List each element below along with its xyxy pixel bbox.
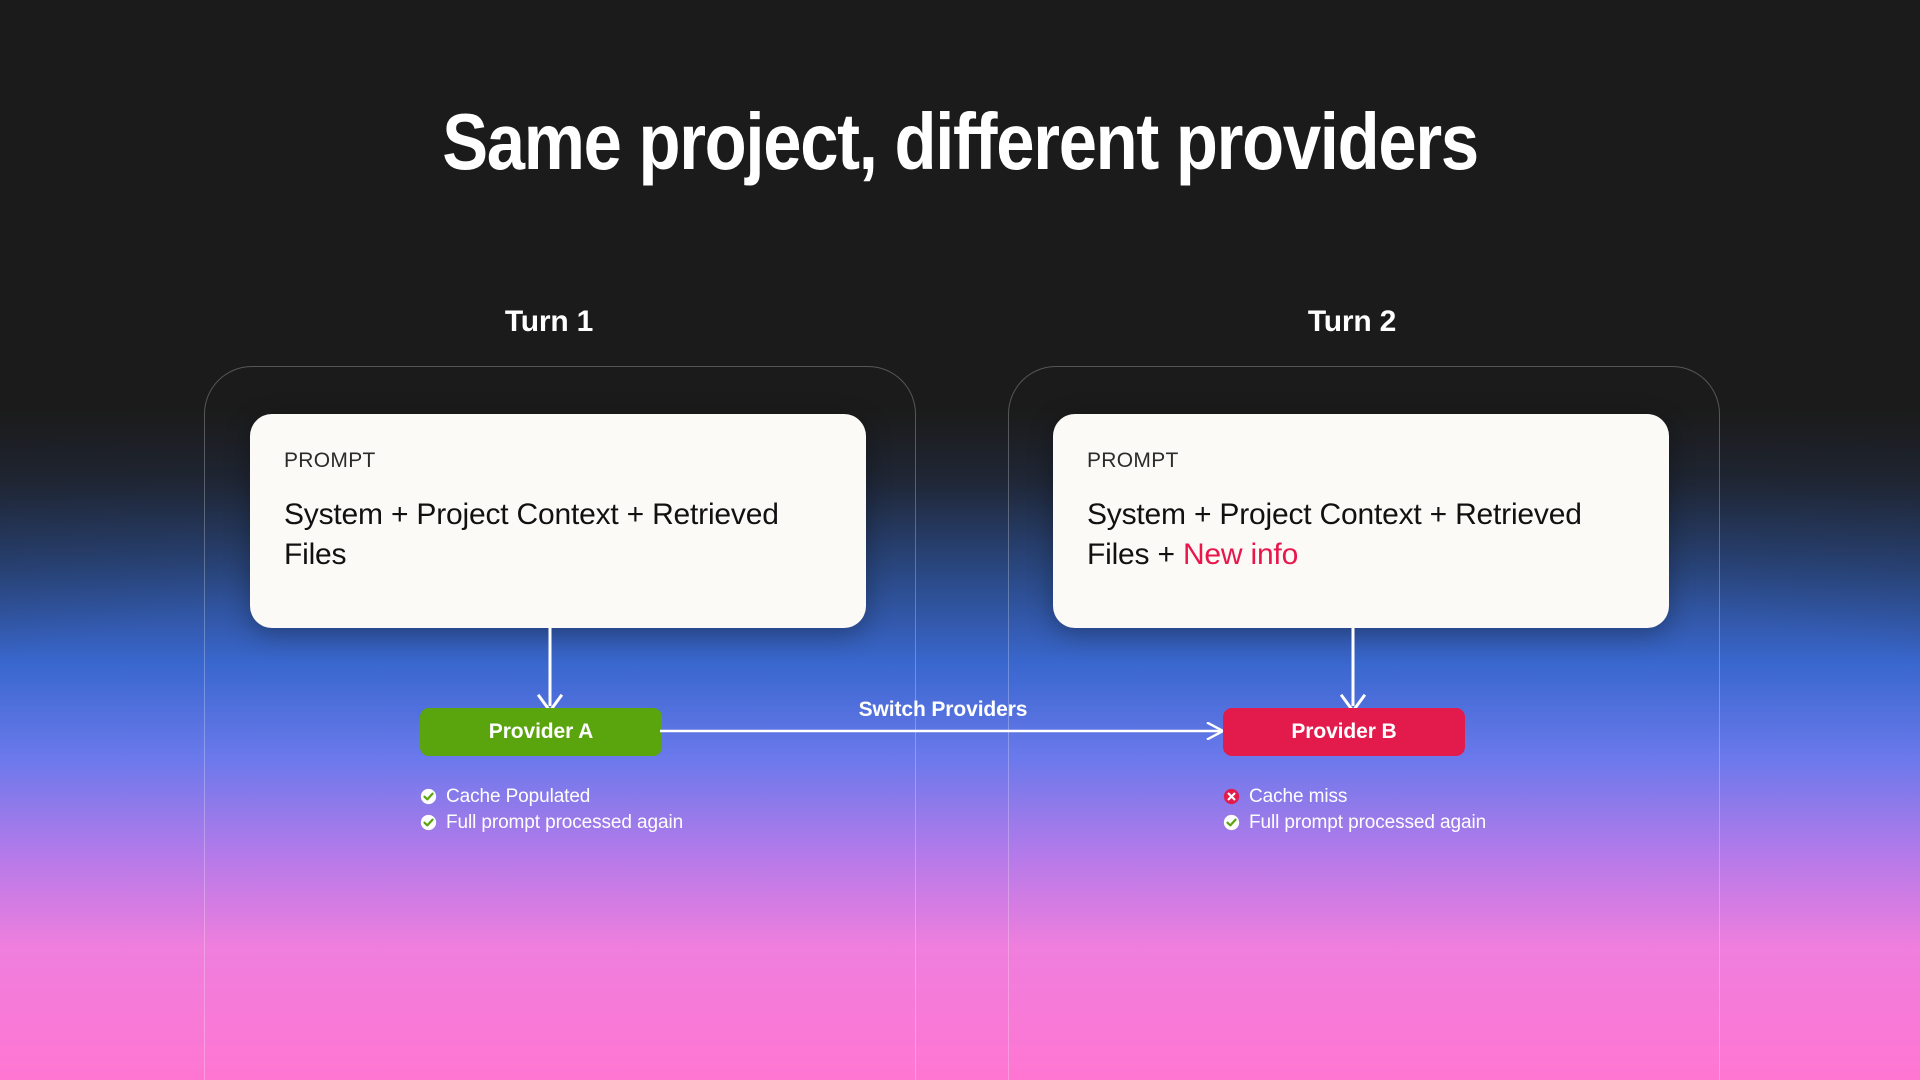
- page-title: Same project, different providers: [134, 102, 1785, 182]
- status-text: Full prompt processed again: [446, 812, 683, 834]
- status-item: Cache miss: [1223, 784, 1486, 809]
- prompt-body: System + Project Context + Retrieved Fil…: [284, 495, 832, 575]
- prompt-card-turn-1: PROMPT System + Project Context + Retrie…: [250, 414, 866, 628]
- status-text: Cache Populated: [446, 786, 590, 808]
- turn-label-2: Turn 2: [1202, 305, 1502, 339]
- cross-circle-icon: [1223, 788, 1240, 805]
- provider-b-label: Provider B: [1291, 720, 1396, 744]
- prompt-body-accent: New info: [1183, 538, 1298, 571]
- check-circle-icon: [420, 788, 437, 805]
- status-text: Cache miss: [1249, 786, 1347, 808]
- check-circle-icon: [1223, 814, 1240, 831]
- prompt-kicker: PROMPT: [1087, 450, 1635, 471]
- check-circle-icon: [420, 814, 437, 831]
- prompt-kicker: PROMPT: [284, 450, 832, 471]
- status-list-turn-1: Cache Populated Full prompt processed ag…: [420, 784, 683, 836]
- status-text: Full prompt processed again: [1249, 812, 1486, 834]
- provider-a-button[interactable]: Provider A: [420, 708, 662, 756]
- status-item: Full prompt processed again: [420, 810, 683, 835]
- arrow-down-turn-2: [1338, 628, 1368, 714]
- provider-b-button[interactable]: Provider B: [1223, 708, 1465, 756]
- arrow-down-turn-1: [535, 628, 565, 714]
- status-item: Cache Populated: [420, 784, 683, 809]
- slide-root: Same project, different providers Turn 1…: [0, 0, 1920, 1080]
- status-item: Full prompt processed again: [1223, 810, 1486, 835]
- turn-label-1: Turn 1: [399, 305, 699, 339]
- prompt-body-text: System + Project Context + Retrieved Fil…: [1087, 498, 1582, 571]
- prompt-card-turn-2: PROMPT System + Project Context + Retrie…: [1053, 414, 1669, 628]
- status-list-turn-2: Cache miss Full prompt processed again: [1223, 784, 1486, 836]
- provider-a-label: Provider A: [489, 720, 593, 744]
- prompt-body-text: System + Project Context + Retrieved Fil…: [284, 498, 779, 571]
- prompt-body: System + Project Context + Retrieved Fil…: [1087, 495, 1635, 575]
